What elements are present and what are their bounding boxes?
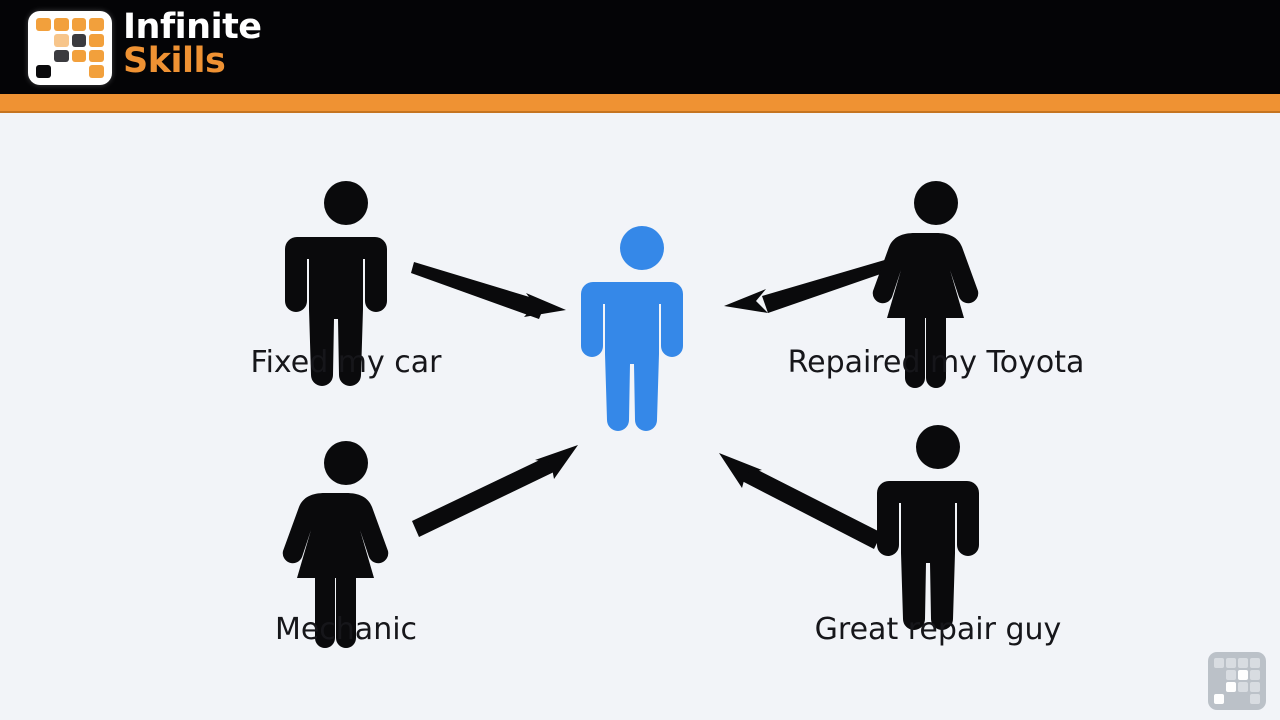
logo-tile <box>89 34 104 47</box>
watermark-tile-grid <box>1214 658 1260 704</box>
logo-tile-icon <box>28 11 112 85</box>
header-accent-stripe <box>0 94 1280 113</box>
person-center <box>581 226 683 431</box>
watermark-tile <box>1226 694 1236 704</box>
watermark-tile <box>1214 658 1224 668</box>
arrow-top-right-to-center <box>724 259 892 313</box>
brand-name-line1: Infinite <box>123 11 262 45</box>
slide-screen: Infinite Skills <box>0 0 1280 720</box>
watermark-logo-icon <box>1208 652 1266 710</box>
logo-tile <box>72 18 87 31</box>
logo-tile <box>54 34 69 47</box>
label-top-left: Fixed my car <box>250 345 441 380</box>
watermark-tile <box>1226 670 1236 680</box>
logo-tile <box>72 50 87 63</box>
watermark-tile <box>1238 682 1248 692</box>
arrow-bottom-right-to-center <box>719 453 882 549</box>
label-top-right: Repaired my Toyota <box>788 345 1085 380</box>
logo-tile <box>89 50 104 63</box>
watermark-tile <box>1226 682 1236 692</box>
logo-tile-grid <box>36 18 104 78</box>
brand-name-line2: Skills <box>123 45 262 79</box>
brand-wordmark: Infinite Skills <box>123 11 262 79</box>
arrow-bottom-left-to-center <box>412 445 578 537</box>
arrow-top-left-to-center <box>411 262 566 319</box>
logo-tile <box>89 65 104 78</box>
logo-tile <box>72 34 87 47</box>
watermark-tile <box>1250 658 1260 668</box>
label-bottom-left: Mechanic <box>275 612 417 647</box>
logo-tile <box>36 18 51 31</box>
header-bar: Infinite Skills <box>0 0 1280 94</box>
logo-tile <box>54 65 69 78</box>
logo-tile <box>36 65 51 78</box>
watermark-tile <box>1250 694 1260 704</box>
watermark-tile <box>1214 670 1224 680</box>
logo-tile <box>36 34 51 47</box>
watermark-tile <box>1238 670 1248 680</box>
logo-tile <box>54 18 69 31</box>
watermark-tile <box>1226 658 1236 668</box>
watermark-tile <box>1214 694 1224 704</box>
logo-tile <box>72 65 87 78</box>
watermark-tile <box>1250 682 1260 692</box>
person-bottom-right <box>877 425 979 630</box>
logo-tile <box>36 50 51 63</box>
watermark-tile <box>1238 694 1248 704</box>
diagram-graphics <box>0 113 1280 720</box>
logo-tile <box>89 18 104 31</box>
logo-tile <box>54 50 69 63</box>
watermark-tile <box>1238 658 1248 668</box>
brand-logo: Infinite Skills <box>28 9 308 87</box>
watermark-tile <box>1214 682 1224 692</box>
label-bottom-right: Great repair guy <box>815 612 1062 647</box>
diagram-canvas: Fixed my car Repaired my Toyota Mechanic… <box>0 113 1280 720</box>
watermark-tile <box>1250 670 1260 680</box>
